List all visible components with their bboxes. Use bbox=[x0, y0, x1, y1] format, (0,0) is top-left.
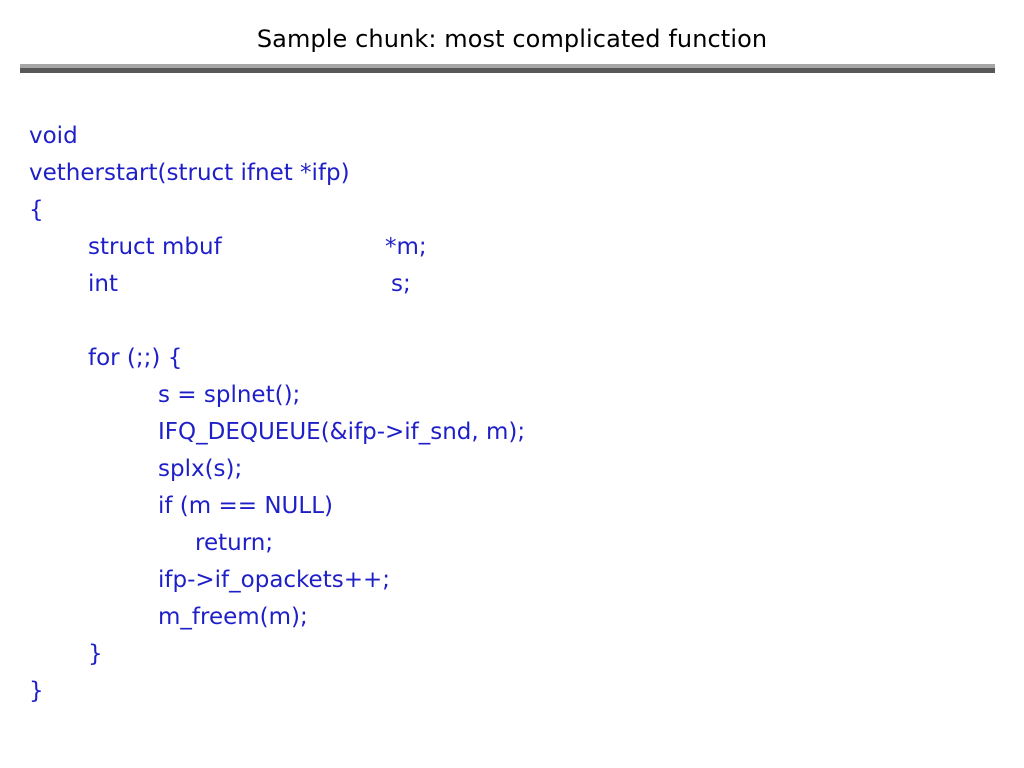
code-line-text: int bbox=[88, 271, 118, 297]
code-line: } bbox=[29, 636, 989, 673]
code-line-text: struct mbuf bbox=[88, 234, 222, 260]
code-line-text: if (m == NULL) bbox=[158, 493, 333, 519]
code-line-text: } bbox=[88, 641, 103, 667]
code-line: splx(s); bbox=[29, 451, 989, 488]
slide: Sample chunk: most complicated function … bbox=[0, 0, 1024, 768]
title-divider bbox=[20, 64, 995, 73]
code-line-text: vetherstart(struct ifnet *ifp) bbox=[29, 160, 350, 186]
code-line-text: void bbox=[29, 123, 78, 149]
code-block: voidvetherstart(struct ifnet *ifp){struc… bbox=[29, 118, 989, 710]
code-line: m_freem(m); bbox=[29, 599, 989, 636]
code-line: vetherstart(struct ifnet *ifp) bbox=[29, 155, 989, 192]
code-line-text: ifp->if_opackets++; bbox=[158, 567, 390, 593]
code-line-column2: *m; bbox=[385, 229, 427, 266]
page-title: Sample chunk: most complicated function bbox=[0, 24, 1024, 54]
code-line-text: for (;;) { bbox=[88, 345, 182, 371]
code-line: return; bbox=[29, 525, 989, 562]
code-line: ifp->if_opackets++; bbox=[29, 562, 989, 599]
code-line-text: } bbox=[29, 678, 44, 704]
code-line: } bbox=[29, 673, 989, 710]
code-line-text: return; bbox=[195, 530, 273, 556]
code-line-text: IFQ_DEQUEUE(&ifp->if_snd, m); bbox=[158, 419, 525, 445]
code-line: void bbox=[29, 118, 989, 155]
code-line-text: splx(s); bbox=[158, 456, 242, 482]
code-line-text: s = splnet(); bbox=[158, 382, 300, 408]
code-line: ints; bbox=[29, 266, 989, 303]
code-line: s = splnet(); bbox=[29, 377, 989, 414]
code-line: struct mbuf*m; bbox=[29, 229, 989, 266]
code-line-text: { bbox=[29, 197, 44, 223]
code-line: if (m == NULL) bbox=[29, 488, 989, 525]
code-line: { bbox=[29, 192, 989, 229]
code-line-text: m_freem(m); bbox=[158, 604, 308, 630]
code-line-column2: s; bbox=[391, 266, 411, 303]
code-line-blank bbox=[29, 303, 989, 340]
title-divider-dark bbox=[20, 68, 995, 73]
code-line: IFQ_DEQUEUE(&ifp->if_snd, m); bbox=[29, 414, 989, 451]
code-line: for (;;) { bbox=[29, 340, 989, 377]
